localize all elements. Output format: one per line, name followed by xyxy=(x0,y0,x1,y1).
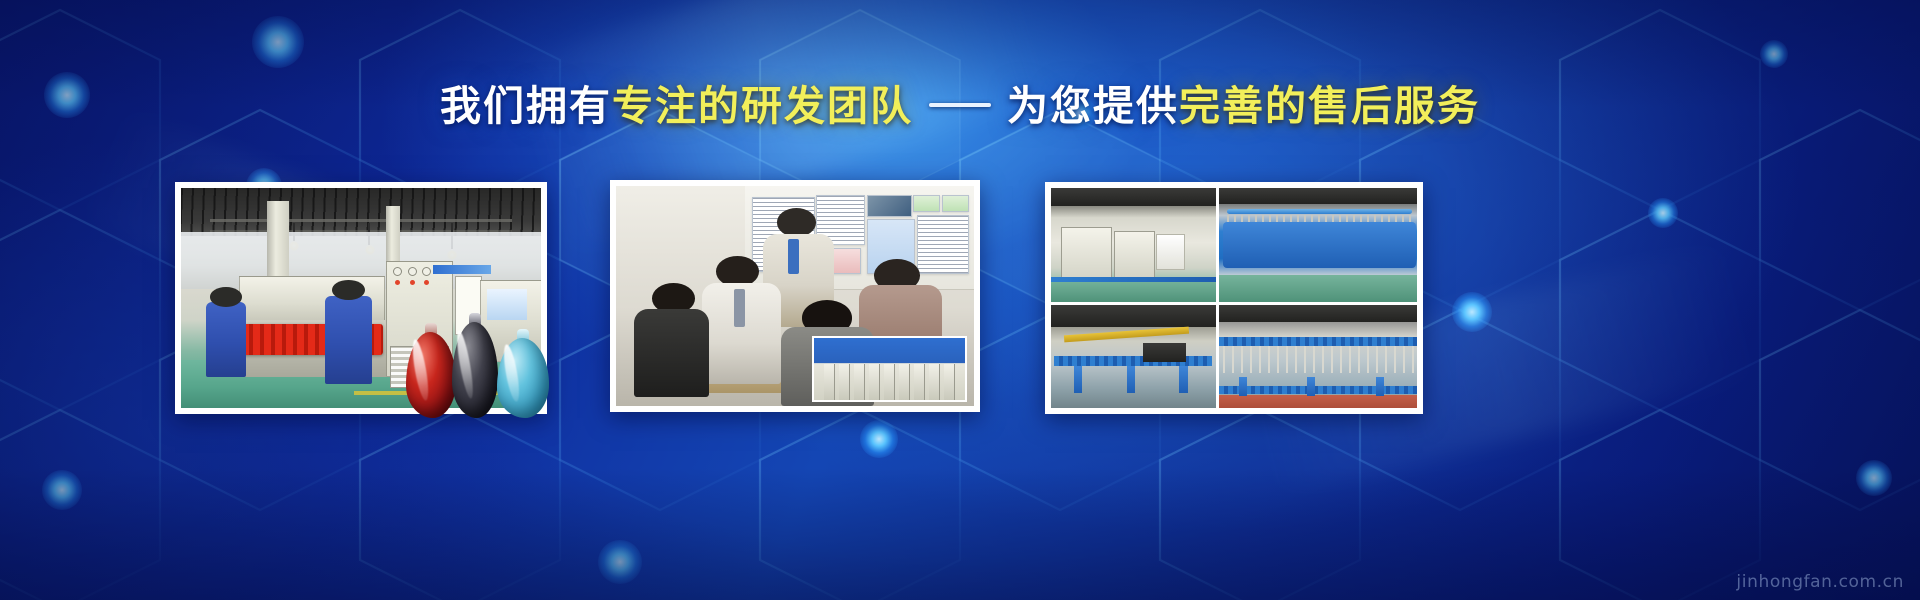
rail-support xyxy=(1074,366,1082,393)
equipment-column xyxy=(899,364,911,400)
banner-headline: 我们拥有专注的研发团队为您提供完善的售后服务 xyxy=(0,80,1920,132)
collage-cell-top-left xyxy=(1051,188,1216,302)
control-knob-icon xyxy=(408,267,417,276)
poster-document xyxy=(917,215,969,274)
green-floor xyxy=(1051,280,1216,303)
overhead-pipe xyxy=(1227,209,1412,215)
person-seated xyxy=(634,309,709,397)
person-tie xyxy=(734,289,745,326)
equipment-cabinet xyxy=(1061,227,1112,282)
equipment-column xyxy=(944,364,956,400)
rail-support xyxy=(1376,377,1384,396)
photo-panel-team-meeting[interactable] xyxy=(610,180,980,412)
equipment-column xyxy=(839,364,851,400)
equipment-column xyxy=(884,364,896,400)
vase-red xyxy=(406,332,456,418)
green-floor xyxy=(1219,275,1417,302)
ceiling-structure xyxy=(1219,305,1417,322)
control-box xyxy=(1156,234,1184,270)
photo-equipment-collage xyxy=(1051,188,1417,408)
roof-truss xyxy=(210,219,512,222)
roof-beam xyxy=(1051,188,1216,206)
vase-dark xyxy=(452,322,498,418)
collage-cell-top-right xyxy=(1219,188,1417,302)
ceiling-structure xyxy=(1051,305,1216,326)
headline-separator-dash xyxy=(929,103,991,107)
equipment-cabinet xyxy=(1114,231,1156,279)
collage-cell-bottom-right xyxy=(1219,305,1417,408)
photo-team-meeting xyxy=(616,186,974,406)
poster-photo xyxy=(867,195,912,217)
worker-head xyxy=(210,287,242,307)
headline-segment-1: 我们拥有 xyxy=(440,83,612,129)
equipment-inset-photo xyxy=(812,336,966,402)
equipment-column xyxy=(929,364,941,400)
meeting-room-image xyxy=(616,186,974,406)
roof-beam xyxy=(1219,188,1417,204)
rail-support xyxy=(1239,377,1247,396)
glass-vase-group xyxy=(402,318,552,418)
equipment-label xyxy=(487,289,527,320)
blue-base-rail xyxy=(1051,277,1216,282)
base-rail xyxy=(1219,386,1417,394)
promo-banner: 我们拥有专注的研发团队为您提供完善的售后服务 xyxy=(0,0,1920,600)
photo-panel-equipment-collage[interactable] xyxy=(1045,182,1423,414)
worker-head xyxy=(332,280,364,300)
equipment-column xyxy=(854,364,866,400)
conveyor-rail xyxy=(1054,356,1212,366)
rail-support xyxy=(1179,366,1187,393)
poster-certificate xyxy=(942,195,969,212)
equipment-column xyxy=(869,364,881,400)
equipment-column xyxy=(824,364,836,400)
equipment-column xyxy=(914,364,926,400)
worker-figure xyxy=(325,296,372,384)
site-watermark: jinhongfan.com.cn xyxy=(1736,572,1904,592)
collage-grid xyxy=(1051,188,1417,408)
blue-oven-tunnel xyxy=(1223,222,1416,268)
red-floor-strip xyxy=(1219,395,1417,408)
headline-segment-3: 为您提供 xyxy=(1007,83,1179,129)
headline-highlight-2: 完善的售后服务 xyxy=(1179,83,1480,129)
poster-certificate xyxy=(913,195,940,212)
machine-block xyxy=(1143,343,1186,362)
rail-support xyxy=(1307,377,1315,396)
vase-blue xyxy=(497,338,549,418)
person-lanyard xyxy=(788,239,799,274)
hanging-hooks-icon xyxy=(1227,215,1412,222)
machine-label-tag xyxy=(433,265,491,274)
hanger-hooks-icon xyxy=(1223,346,1416,373)
headline-highlight-1: 专注的研发团队 xyxy=(612,83,913,129)
person-head xyxy=(777,208,816,237)
worker-figure xyxy=(206,302,246,377)
rail-support xyxy=(1127,366,1135,393)
crane-beam xyxy=(1064,326,1189,342)
collage-cell-bottom-left xyxy=(1051,305,1216,408)
hanger-rail xyxy=(1219,337,1417,345)
